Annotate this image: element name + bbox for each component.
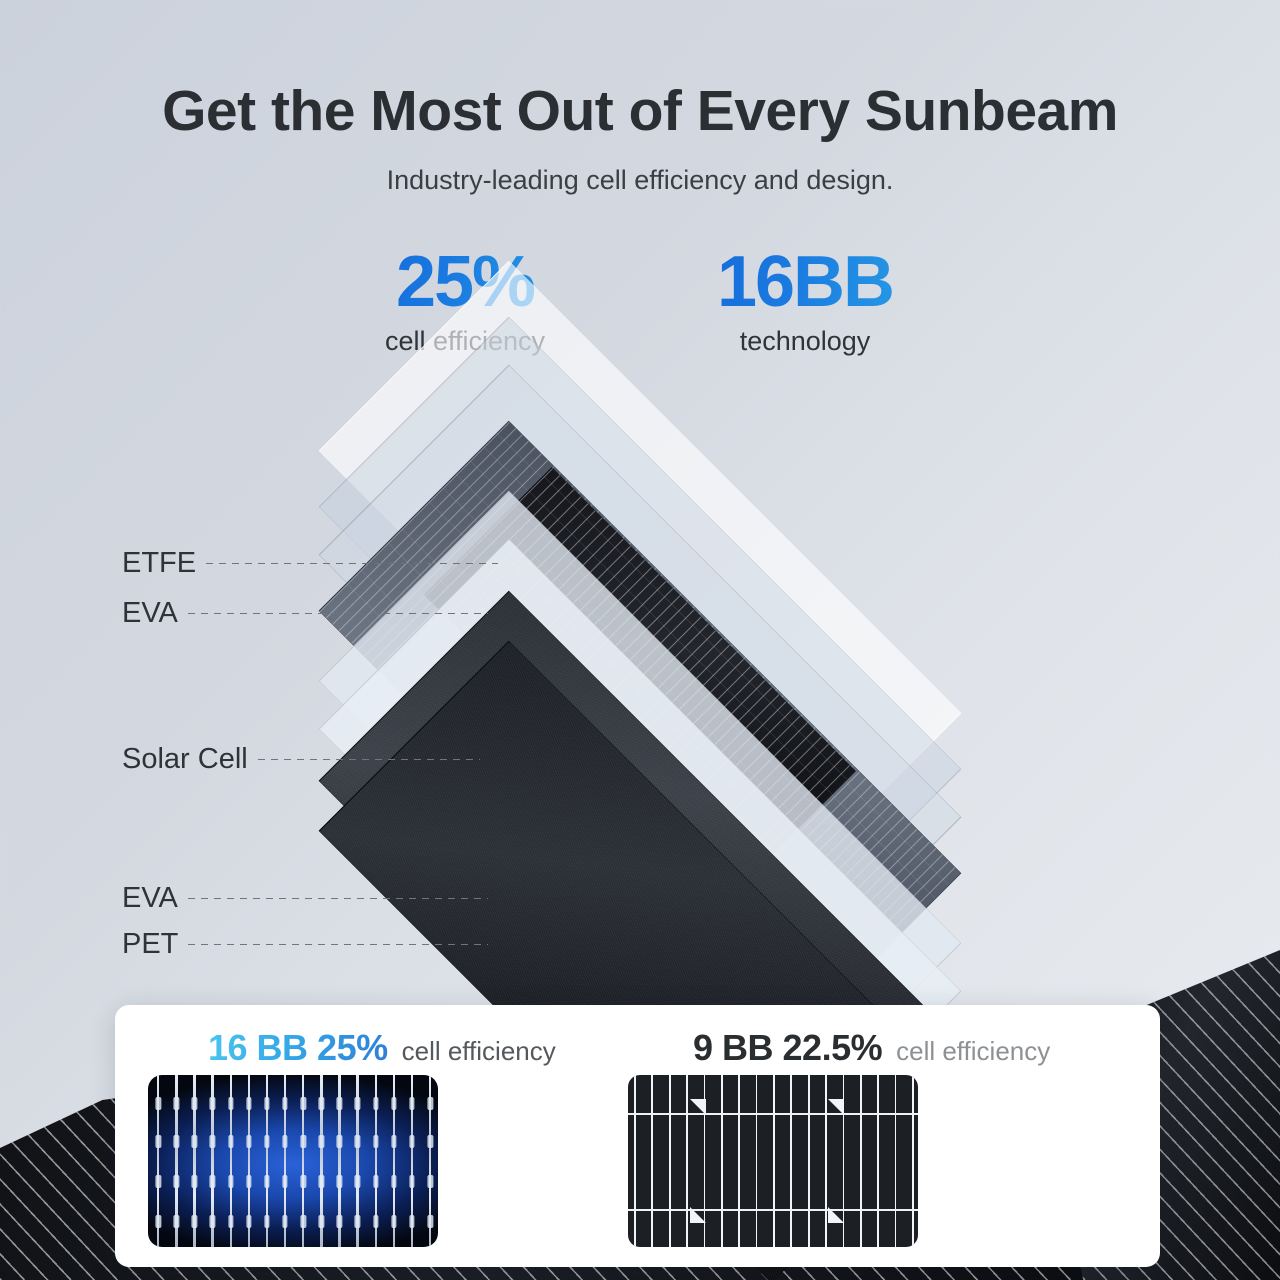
stat-value: 16BB bbox=[660, 246, 950, 318]
cell-image-9bb bbox=[628, 1075, 918, 1247]
cell-finger bbox=[912, 1075, 914, 1247]
busbar-node bbox=[427, 1175, 433, 1188]
busbar-node bbox=[427, 1097, 433, 1110]
busbar-node bbox=[355, 1175, 361, 1188]
comparison-left-caption: cell efficiency bbox=[402, 1036, 556, 1067]
busbar-node bbox=[155, 1135, 161, 1148]
busbar-node bbox=[246, 1175, 252, 1188]
busbar-node bbox=[210, 1097, 216, 1110]
cell-finger bbox=[669, 1075, 671, 1247]
busbar-node bbox=[409, 1215, 415, 1228]
busbar-node bbox=[192, 1215, 198, 1228]
layer-label-text: ETFE bbox=[122, 547, 196, 580]
busbar-node bbox=[319, 1215, 325, 1228]
layer-label-text: EVA bbox=[122, 597, 178, 630]
layer-label-text: EVA bbox=[122, 882, 178, 915]
cell-finger bbox=[860, 1075, 862, 1247]
busbar-node bbox=[337, 1135, 343, 1148]
busbar-node bbox=[192, 1097, 198, 1110]
busbar-node bbox=[264, 1135, 270, 1148]
cell-finger bbox=[686, 1075, 688, 1247]
busbar-node bbox=[192, 1175, 198, 1188]
leader-line bbox=[258, 759, 480, 760]
busbar-node bbox=[373, 1135, 379, 1148]
leader-line bbox=[188, 613, 488, 614]
comparison-left: 16 BB 25% cell efficiency bbox=[208, 1027, 556, 1069]
page-title: Get the Most Out of Every Sunbeam bbox=[0, 78, 1280, 144]
busbar-node bbox=[409, 1135, 415, 1148]
busbar-node bbox=[228, 1175, 234, 1188]
busbar-node bbox=[174, 1135, 180, 1148]
busbar-node bbox=[373, 1097, 379, 1110]
busbar-node bbox=[300, 1215, 306, 1228]
busbar-node bbox=[391, 1215, 397, 1228]
busbar-node bbox=[300, 1135, 306, 1148]
busbar-node bbox=[210, 1175, 216, 1188]
busbar-node bbox=[409, 1097, 415, 1110]
stat-technology: 16BB technology bbox=[660, 246, 950, 357]
cell-finger bbox=[634, 1075, 636, 1247]
busbar-node bbox=[264, 1097, 270, 1110]
busbar-node bbox=[409, 1175, 415, 1188]
busbar-node bbox=[355, 1097, 361, 1110]
cell-finger bbox=[877, 1075, 879, 1247]
busbar-node bbox=[282, 1175, 288, 1188]
busbar-node bbox=[319, 1097, 325, 1110]
busbar-node bbox=[391, 1175, 397, 1188]
busbar-node bbox=[355, 1215, 361, 1228]
busbar-node bbox=[264, 1175, 270, 1188]
cell-image-16bb bbox=[148, 1075, 438, 1247]
stats-row: 25% cell efficiency 16BB technology bbox=[0, 246, 1280, 376]
busbar-node bbox=[337, 1215, 343, 1228]
comparison-card: 16 BB 25% cell efficiency 9 BB 22.5% cel… bbox=[115, 1005, 1160, 1267]
busbar-node bbox=[300, 1097, 306, 1110]
comparison-right: 9 BB 22.5% cell efficiency bbox=[693, 1027, 1050, 1069]
layer-label-pet: PET bbox=[122, 927, 488, 961]
busbar-node bbox=[246, 1097, 252, 1110]
busbar-node bbox=[427, 1135, 433, 1148]
cell-finger bbox=[773, 1075, 775, 1247]
busbar-node bbox=[373, 1175, 379, 1188]
cell-busbar bbox=[628, 1209, 918, 1211]
busbar-node bbox=[246, 1215, 252, 1228]
comparison-left-heading: 16 BB 25% cell efficiency bbox=[208, 1027, 556, 1069]
busbar-node bbox=[355, 1135, 361, 1148]
busbar-node bbox=[228, 1097, 234, 1110]
busbar-node bbox=[155, 1097, 161, 1110]
busbar-node bbox=[282, 1097, 288, 1110]
cell-finger bbox=[738, 1075, 740, 1247]
busbar-node bbox=[174, 1097, 180, 1110]
busbar-node bbox=[192, 1135, 198, 1148]
busbar-node bbox=[210, 1135, 216, 1148]
busbar-node bbox=[155, 1175, 161, 1188]
cell-busbar bbox=[628, 1113, 918, 1115]
comparison-right-heading: 9 BB 22.5% cell efficiency bbox=[693, 1027, 1050, 1069]
busbar-node bbox=[282, 1135, 288, 1148]
cell-finger bbox=[756, 1075, 758, 1247]
layer-label-text: Solar Cell bbox=[122, 743, 248, 776]
comparison-left-spec: 16 BB 25% bbox=[208, 1027, 388, 1069]
busbar-node bbox=[373, 1215, 379, 1228]
busbar-node bbox=[228, 1215, 234, 1228]
busbar-node bbox=[155, 1215, 161, 1228]
busbar-node bbox=[300, 1175, 306, 1188]
busbar-node bbox=[337, 1097, 343, 1110]
busbar-node bbox=[174, 1215, 180, 1228]
leader-line bbox=[188, 898, 488, 899]
cell-finger bbox=[808, 1075, 810, 1247]
busbar-node bbox=[319, 1175, 325, 1188]
cell-finger bbox=[825, 1075, 827, 1247]
page-subtitle: Industry-leading cell efficiency and des… bbox=[0, 165, 1280, 196]
leader-line bbox=[188, 944, 488, 945]
busbar-node bbox=[174, 1175, 180, 1188]
exploded-layer-diagram bbox=[0, 380, 1280, 1020]
busbar-node bbox=[228, 1135, 234, 1148]
comparison-right-caption: cell efficiency bbox=[896, 1036, 1050, 1067]
busbar-node bbox=[337, 1175, 343, 1188]
busbar-node bbox=[264, 1215, 270, 1228]
cell-finger bbox=[651, 1075, 653, 1247]
cell-finger bbox=[895, 1075, 897, 1247]
layer-label-solar-cell: Solar Cell bbox=[122, 742, 480, 776]
layer-label-eva-bottom: EVA bbox=[122, 881, 488, 915]
busbar-node bbox=[427, 1215, 433, 1228]
busbar-node bbox=[246, 1135, 252, 1148]
busbar-node bbox=[391, 1135, 397, 1148]
layer-label-eva-top: EVA bbox=[122, 596, 488, 630]
layer-label-text: PET bbox=[122, 928, 178, 961]
comparison-right-spec: 9 BB 22.5% bbox=[693, 1027, 882, 1069]
busbar-node bbox=[319, 1135, 325, 1148]
busbar-node bbox=[282, 1215, 288, 1228]
busbar-node bbox=[391, 1097, 397, 1110]
layer-label-etfe: ETFE bbox=[122, 546, 498, 580]
leader-line bbox=[206, 563, 498, 564]
cell-finger bbox=[790, 1075, 792, 1247]
cell-finger bbox=[721, 1075, 723, 1247]
stat-label: technology bbox=[660, 326, 950, 357]
busbar-node bbox=[210, 1215, 216, 1228]
